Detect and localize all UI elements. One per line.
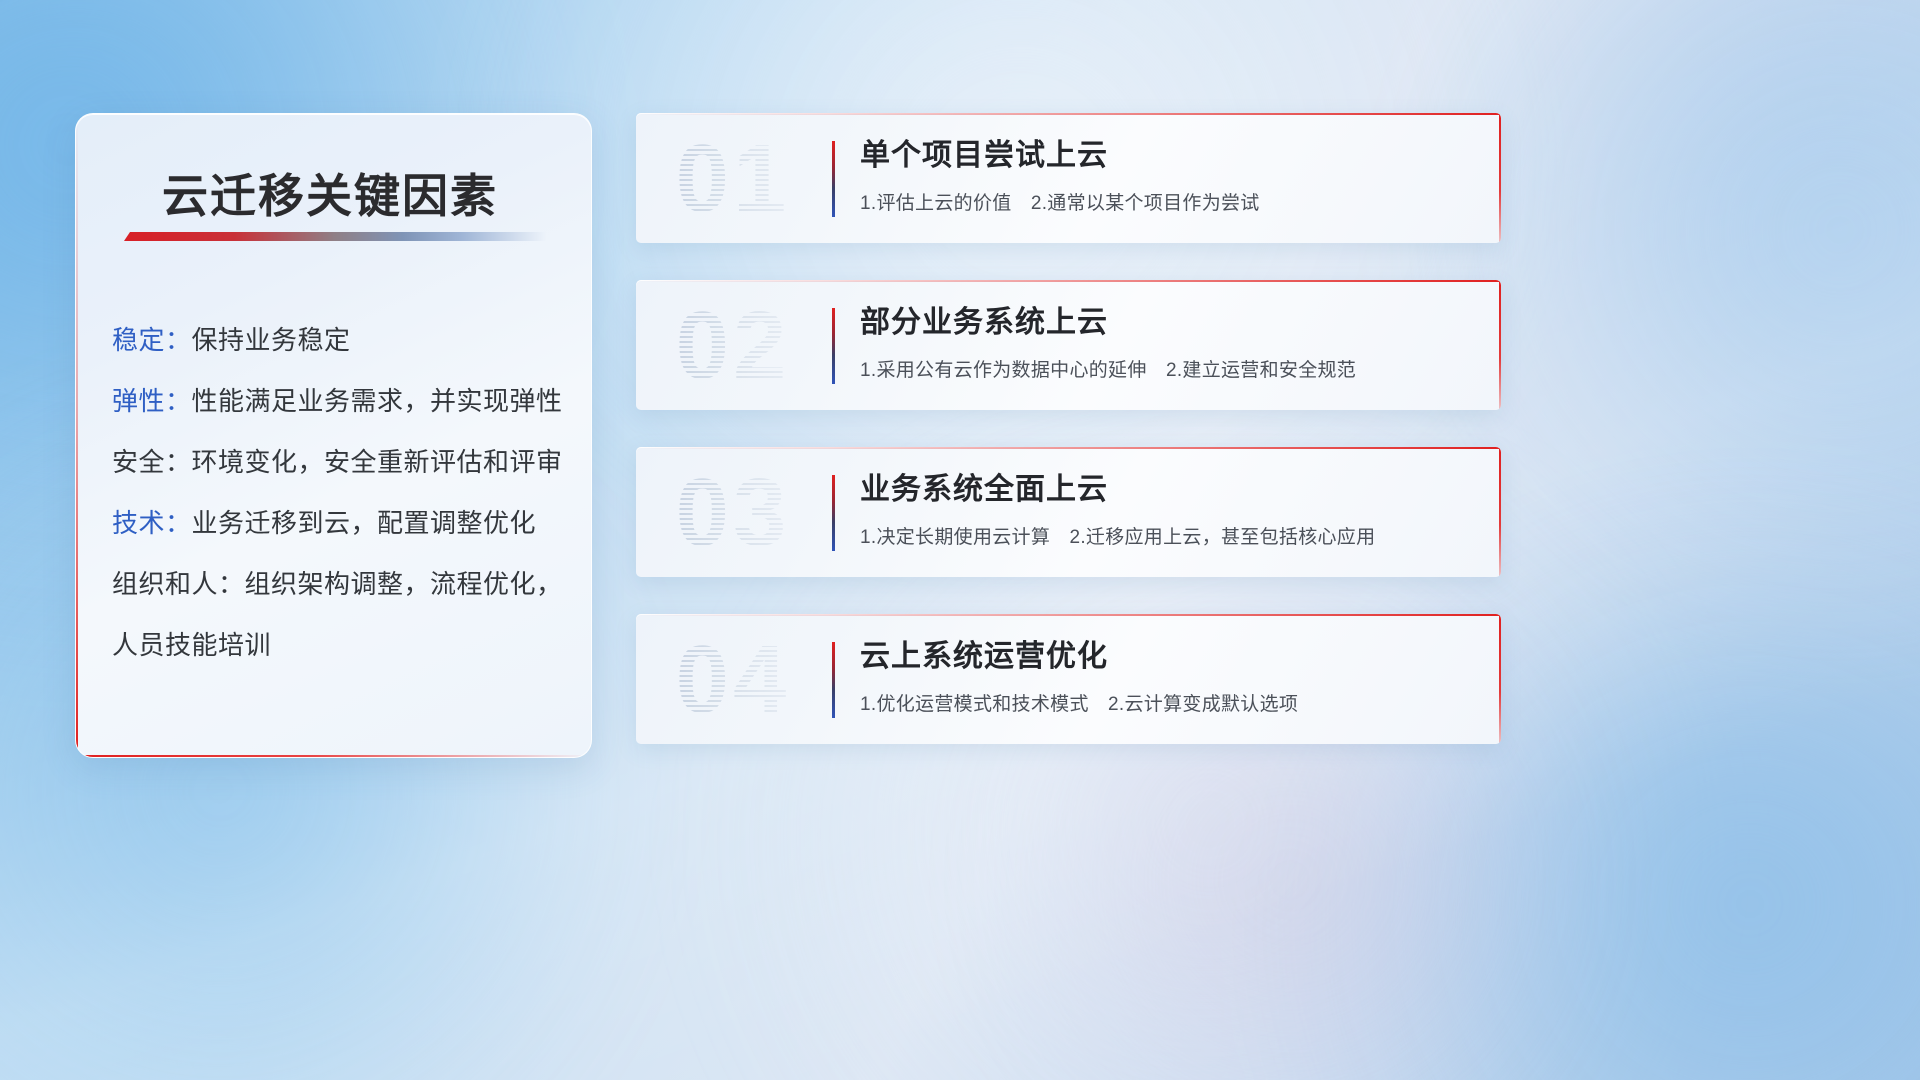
stage-title: 部分业务系统上云: [860, 302, 1471, 344]
factor-text: 组织架构调整，流程优化，: [245, 569, 563, 599]
factor-text: 环境变化，安全重新评估和评审: [192, 447, 563, 477]
stage-description: 1.采用公有云作为数据中心的延伸 2.建立运营和安全规范: [860, 355, 1471, 382]
stage-card-body: 云上系统运营优化1.优化运营模式和技术模式 2.云计算变成默认选项: [860, 636, 1471, 716]
key-factors-panel: 云迁移关键因素 稳定：保持业务稳定弹性：性能满足业务需求，并实现弹性安全：环境变…: [75, 113, 592, 758]
stage-card[interactable]: 02部分业务系统上云1.采用公有云作为数据中心的延伸 2.建立运营和安全规范: [636, 280, 1501, 410]
stage-description: 1.评估上云的价值 2.通常以某个项目作为尝试: [860, 188, 1471, 215]
stage-divider-accent: [832, 141, 835, 217]
title-underline-accent: [124, 232, 546, 241]
stage-title: 云上系统运营优化: [860, 636, 1471, 678]
stage-card-body: 单个项目尝试上云1.评估上云的价值 2.通常以某个项目作为尝试: [860, 135, 1471, 215]
stage-number: 03: [658, 453, 808, 573]
factor-text: 保持业务稳定: [192, 325, 351, 355]
factor-text: 人员技能培训: [112, 630, 271, 660]
stage-divider-accent: [832, 475, 835, 551]
stage-divider-accent: [832, 308, 835, 384]
factor-row: 人员技能培训: [112, 615, 563, 676]
stage-card[interactable]: 04云上系统运营优化1.优化运营模式和技术模式 2.云计算变成默认选项: [636, 614, 1501, 744]
factor-label: 稳定：: [112, 325, 192, 355]
stage-card-body: 部分业务系统上云1.采用公有云作为数据中心的延伸 2.建立运营和安全规范: [860, 302, 1471, 382]
factor-label: 安全：: [112, 447, 192, 477]
factor-text: 性能满足业务需求，并实现弹性: [192, 386, 563, 416]
stage-title: 业务系统全面上云: [860, 469, 1471, 511]
stage-number: 01: [658, 119, 808, 239]
stage-card[interactable]: 01单个项目尝试上云1.评估上云的价值 2.通常以某个项目作为尝试: [636, 113, 1501, 243]
factor-row: 技术：业务迁移到云，配置调整优化: [112, 493, 563, 554]
factor-row: 组织和人：组织架构调整，流程优化，: [112, 554, 563, 615]
stage-description: 1.决定长期使用云计算 2.迁移应用上云，甚至包括核心应用: [860, 522, 1471, 549]
factor-row: 安全：环境变化，安全重新评估和评审: [112, 432, 563, 493]
factor-row: 弹性：性能满足业务需求，并实现弹性: [112, 371, 563, 432]
stage-number: 04: [658, 620, 808, 740]
stage-card-body: 业务系统全面上云1.决定长期使用云计算 2.迁移应用上云，甚至包括核心应用: [860, 469, 1471, 549]
factor-label: 组织和人：: [112, 569, 245, 599]
stage-divider-accent: [832, 642, 835, 718]
stage-card-list: 01单个项目尝试上云1.评估上云的价值 2.通常以某个项目作为尝试02部分业务系…: [636, 113, 1501, 781]
factor-text: 业务迁移到云，配置调整优化: [192, 508, 537, 538]
factor-row: 稳定：保持业务稳定: [112, 310, 563, 371]
stage-card[interactable]: 03业务系统全面上云1.决定长期使用云计算 2.迁移应用上云，甚至包括核心应用: [636, 447, 1501, 577]
page-title: 云迁移关键因素: [162, 160, 498, 226]
factor-label: 弹性：: [112, 386, 192, 416]
factor-label: 技术：: [112, 508, 192, 538]
stage-number: 02: [658, 286, 808, 406]
stage-title: 单个项目尝试上云: [860, 135, 1471, 177]
factor-list: 稳定：保持业务稳定弹性：性能满足业务需求，并实现弹性安全：环境变化，安全重新评估…: [112, 310, 563, 676]
stage-description: 1.优化运营模式和技术模式 2.云计算变成默认选项: [860, 689, 1471, 716]
